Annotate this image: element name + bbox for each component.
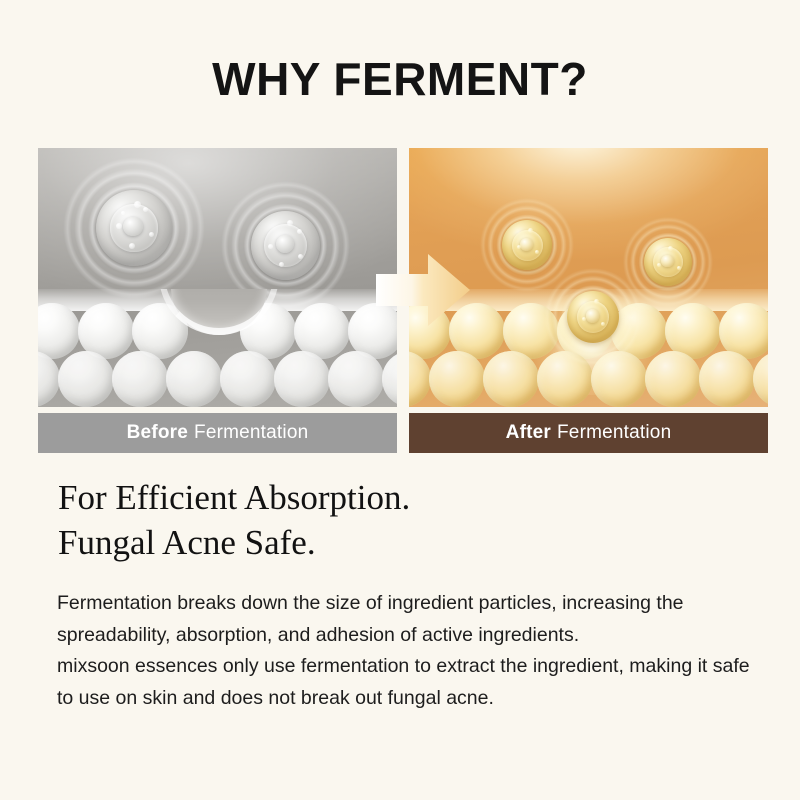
- bubble: [668, 246, 673, 251]
- before-caption-rest: Fermentation: [194, 422, 308, 444]
- body-paragraph-1: Fermentation breaks down the size of ing…: [57, 588, 763, 651]
- pearl: [274, 351, 330, 407]
- headline-line-2: Fungal Acne Safe.: [58, 521, 758, 566]
- bubble: [143, 207, 148, 212]
- right-arrow-icon: [376, 252, 472, 328]
- body-copy: Fermentation breaks down the size of ing…: [57, 588, 763, 714]
- pearl: [58, 351, 114, 407]
- pearl: [591, 351, 647, 407]
- gold-molecule-2: [644, 238, 692, 286]
- bubble: [582, 317, 586, 321]
- after-caption-bar: After Fermentation: [409, 413, 768, 453]
- bubble: [297, 229, 302, 234]
- bubble: [134, 201, 141, 208]
- pearl: [483, 351, 539, 407]
- pearl: [38, 351, 60, 407]
- bubble: [149, 232, 154, 237]
- pearl: [753, 351, 768, 407]
- bubble: [677, 266, 681, 270]
- before-caption-bar: Before Fermentation: [38, 413, 397, 453]
- bubble: [287, 220, 293, 226]
- pearl: [645, 351, 701, 407]
- pearl: [429, 351, 485, 407]
- silver-molecule-1: [96, 190, 172, 266]
- skin-barrier-before: [38, 289, 397, 407]
- bubble: [268, 244, 273, 249]
- bubble: [121, 211, 125, 215]
- molecule-core: [520, 238, 533, 251]
- pearl: [166, 351, 222, 407]
- pearl-row-bottom: [38, 351, 397, 407]
- gold-molecule-3-penetrating: [567, 291, 619, 343]
- headline: For Efficient Absorption. Fungal Acne Sa…: [58, 476, 758, 566]
- bubble: [517, 245, 521, 249]
- after-caption-bold: After: [506, 422, 551, 444]
- gold-molecule-1: [502, 220, 552, 270]
- after-caption-rest: Fermentation: [557, 422, 671, 444]
- pearl: [537, 351, 593, 407]
- bubble: [528, 228, 533, 233]
- headline-line-1: For Efficient Absorption.: [58, 476, 758, 521]
- pearl: [382, 351, 397, 407]
- pearl: [112, 351, 168, 407]
- before-panel: Before Fermentation: [38, 148, 397, 453]
- bubble: [279, 262, 284, 267]
- silver-molecule-2: [251, 211, 320, 280]
- pearl: [328, 351, 384, 407]
- pearl: [699, 351, 755, 407]
- bubble: [535, 250, 539, 254]
- before-after-comparison: Before Fermentation: [38, 148, 768, 453]
- molecule-core: [586, 309, 600, 323]
- page-title: WHY FERMENT?: [0, 56, 800, 102]
- body-paragraph-2: mixsoon essences only use fermentation t…: [57, 651, 763, 714]
- pearl: [409, 351, 431, 407]
- bubble: [298, 254, 303, 259]
- why-ferment-infographic: WHY FERMENT?: [0, 0, 800, 800]
- molecule-core: [276, 235, 294, 253]
- molecule-core: [661, 255, 673, 267]
- before-scene-illustration: [38, 148, 397, 407]
- before-caption-bold: Before: [127, 422, 188, 444]
- pearl: [220, 351, 276, 407]
- pearl-row-bottom: [409, 351, 768, 407]
